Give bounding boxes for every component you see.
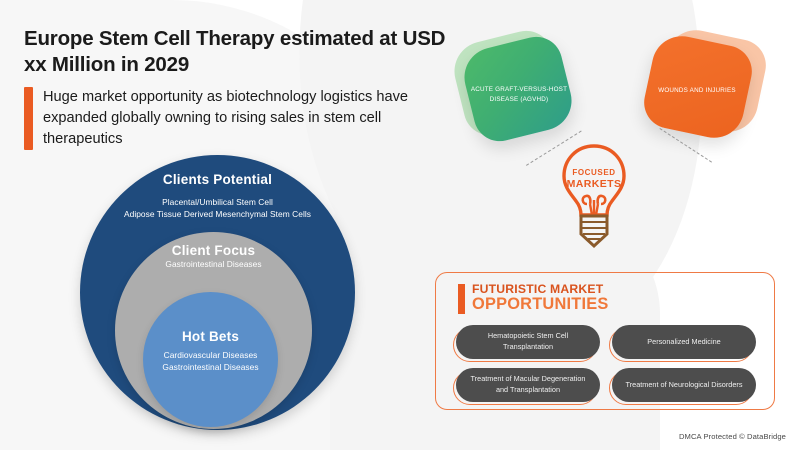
panel-accent-bar-icon [458,284,465,314]
circle-inner-detail: Cardiovascular Diseases Gastrointestinal… [162,350,258,374]
panel-heading: FUTURISTIC MARKET OPPORTUNITIES [458,283,608,314]
copyright-footer: DMCA Protected © DataBridge [679,432,786,441]
accent-bar-icon [24,87,33,149]
circle-outer-label: Clients Potential [163,172,272,187]
circle-hot-bets[interactable]: Hot Bets Cardiovascular Diseases Gastroi… [143,292,278,427]
bulb-label-line1: FOCUSED [556,168,632,177]
panel-heading-line2: OPPORTUNITIES [472,296,608,313]
pill-label: Hematopoietic Stem Cell Transplantation [456,325,600,359]
panel-heading-line1: FUTURISTIC MARKET [472,283,608,296]
pill-label: Treatment of Macular Degeneration and Tr… [456,368,600,402]
badge-label-wounds-injuries: WOUNDS AND INJURIES [643,86,751,96]
bulb-label-line2: MARKETS [556,178,632,190]
opportunity-pill-grid: Hematopoietic Stem Cell Transplantation … [456,325,756,402]
opportunity-item[interactable]: Personalized Medicine [612,325,756,359]
futuristic-market-panel: FUTURISTIC MARKET OPPORTUNITIES Hematopo… [435,272,775,410]
focused-markets-diagram: ACUTE GRAFT-VERSUS-HOST DISEASE (AGVHD) … [440,18,800,268]
opportunity-item[interactable]: Hematopoietic Stem Cell Transplantation [456,325,600,359]
circle-middle-label: Client Focus [172,243,255,258]
circle-inner-label: Hot Bets [182,329,239,344]
page-subtitle: Huge market opportunity as biotechnology… [43,87,433,149]
infographic-canvas: Europe Stem Cell Therapy estimated at US… [0,0,800,450]
opportunity-item[interactable]: Treatment of Macular Degeneration and Tr… [456,368,600,402]
header: Europe Stem Cell Therapy estimated at US… [24,26,454,150]
lightbulb-icon[interactable]: FOCUSED MARKETS [556,142,632,252]
pill-label: Personalized Medicine [612,325,756,359]
page-title: Europe Stem Cell Therapy estimated at US… [24,26,454,78]
subtitle-block: Huge market opportunity as biotechnology… [24,87,454,149]
badge-label-agvhd: ACUTE GRAFT-VERSUS-HOST DISEASE (AGVHD) [465,85,573,105]
opportunity-item[interactable]: Treatment of Neurological Disorders [612,368,756,402]
circle-outer-detail: Placental/Umbilical Stem Cell Adipose Ti… [124,197,311,221]
pill-label: Treatment of Neurological Disorders [612,368,756,402]
circle-middle-detail: Gastrointestinal Diseases [165,259,261,271]
